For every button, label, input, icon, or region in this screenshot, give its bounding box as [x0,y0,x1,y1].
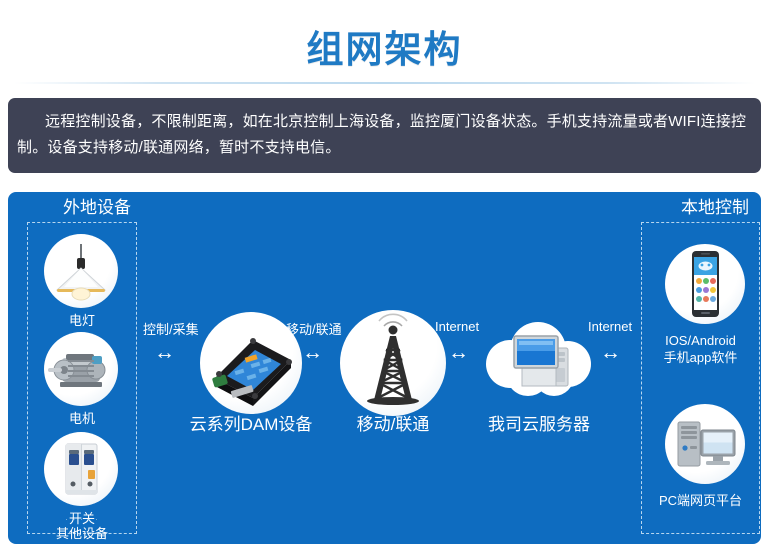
flow-label-internet-1: Internet [435,319,479,334]
device-caption-other: 其他设备 [27,525,137,542]
smartphone-app-icon [665,244,745,324]
node-caption-dam-device: 云系列DAM设备 [170,416,332,433]
flow-arrow-internet-1: ↔ [448,342,469,363]
node-caption-carrier: 移动/联通 [338,416,448,433]
title-divider [14,82,755,84]
desktop-pc-icon [665,404,745,484]
page-title: 组网架构 [307,19,463,73]
flow-arrow-control-collect: ↔ [154,342,175,363]
flow-label-control-collect: 控制/采集 [143,319,199,338]
node-caption-cloud-server: 我司云服务器 [474,416,604,433]
page-header: 组网架构 [0,0,769,92]
pendant-lamp-icon [44,234,118,308]
device-caption-motor: 电机 [27,410,137,427]
cloud-server-icon [480,318,598,404]
flow-arrow-internet-2: ↔ [600,342,621,363]
circuit-breaker-switch-icon [44,432,118,506]
flow-label-mobile-unicom: 移动/联通 [286,319,342,338]
client-caption-mobile-app-line1: IOS/Android [641,332,760,349]
more-devices-ellipsis: · · · · · [27,514,137,524]
cell-tower-icon [340,310,446,416]
description-banner: 远程控制设备，不限制距离，如在北京控制上海设备，监控厦门设备状态。手机支持流量或… [8,98,761,173]
description-text: 远程控制设备，不限制距离，如在北京控制上海设备，监控厦门设备状态。手机支持流量或… [17,109,752,161]
flow-label-internet-2: Internet [588,319,632,334]
right-group-label: 本地控制 [681,198,749,218]
client-caption-mobile-app-line2: 手机app软件 [641,349,760,366]
client-caption-pc-web-line1: PC端网页平台 [641,492,760,509]
flow-arrow-mobile-unicom: ↔ [302,342,323,363]
left-group-label: 外地设备 [63,198,131,218]
network-architecture-diagram: 外地设备 本地控制 电灯 [8,192,761,544]
device-caption-lamp: 电灯 [27,312,137,329]
electric-motor-icon [44,332,118,406]
